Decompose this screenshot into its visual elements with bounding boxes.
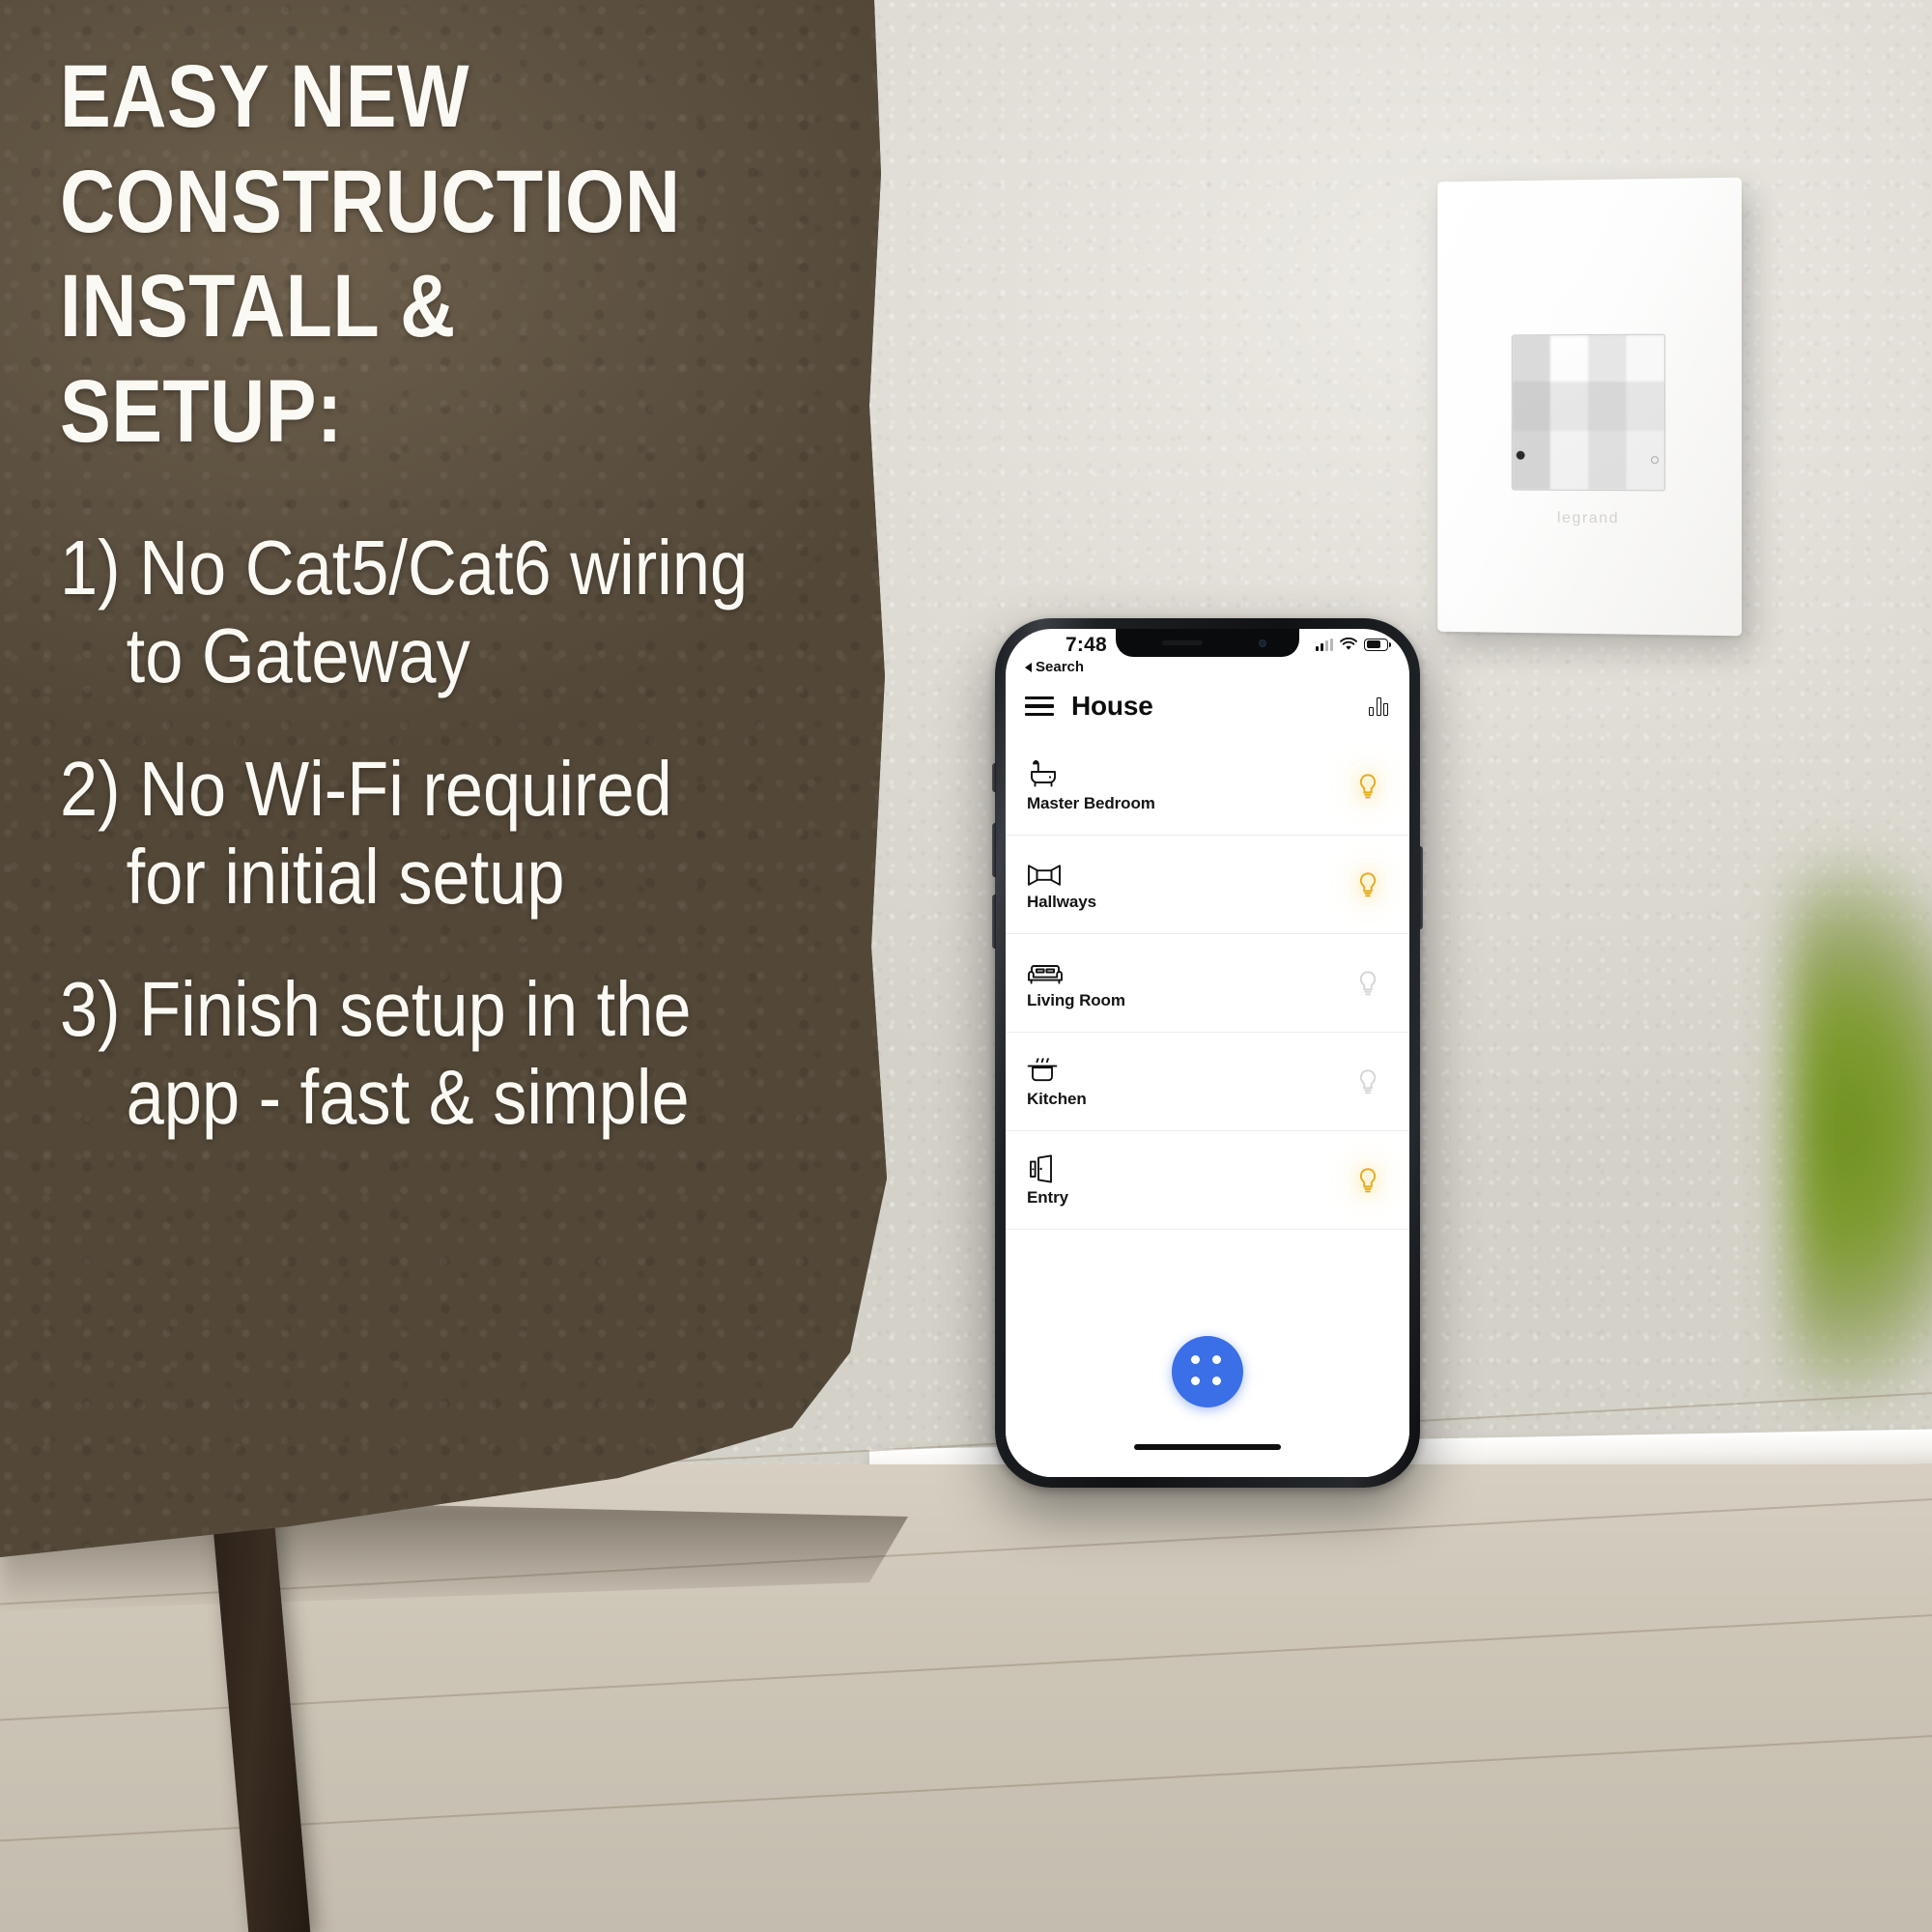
- step-line2: for initial setup: [60, 833, 765, 921]
- fab-container: [1006, 1299, 1409, 1444]
- list-item-label: Hallways: [1027, 893, 1096, 912]
- light-toggle-bulb-icon[interactable]: [1350, 867, 1386, 903]
- bathtub-icon: [1027, 758, 1155, 789]
- promo-copy: EASY NEW CONSTRUCTION INSTALL & SETUP: 1…: [60, 44, 862, 1185]
- bar-chart-icon[interactable]: [1369, 697, 1388, 716]
- wifi-icon: [1340, 638, 1357, 651]
- back-to-search-button[interactable]: Search: [1025, 659, 1107, 675]
- step-number: 1): [60, 525, 121, 611]
- list-item[interactable]: Master Bedroom: [1006, 737, 1409, 836]
- light-toggle-bulb-icon[interactable]: [1350, 1162, 1386, 1199]
- step-line1: No Cat5/Cat6 wiring: [139, 525, 748, 611]
- list-item-label: Master Bedroom: [1027, 794, 1155, 813]
- list-item[interactable]: Entry: [1006, 1131, 1409, 1230]
- phone-volume-up-button[interactable]: [992, 823, 996, 877]
- promo-step: 2) No Wi-Fi required for initial setup: [60, 745, 765, 921]
- step-line2: app - fast & simple: [60, 1053, 765, 1141]
- list-item-label: Kitchen: [1027, 1090, 1087, 1109]
- status-bar-right: [1316, 635, 1388, 651]
- wall-switch-plate[interactable]: legrand: [1437, 178, 1742, 637]
- cooking-pot-icon: [1027, 1054, 1087, 1085]
- step-line1: Finish setup in the: [139, 966, 691, 1052]
- list-item-label: Entry: [1027, 1188, 1068, 1207]
- list-item[interactable]: Living Room: [1006, 934, 1409, 1033]
- step-line2: to Gateway: [60, 611, 765, 699]
- room-list: Master Bedroom: [1006, 737, 1409, 1299]
- paddle-pixelated-surface: [1513, 335, 1664, 491]
- status-led-icon: [1517, 451, 1525, 460]
- status-bar-clock: 7:48: [1065, 635, 1107, 655]
- step-line1: No Wi-Fi required: [139, 746, 672, 832]
- hallway-icon: [1027, 857, 1096, 888]
- promo-step: 3) Finish setup in the app - fast & simp…: [60, 965, 765, 1141]
- phone-screen: 7:48 Search: [1006, 629, 1409, 1477]
- phone-volume-down-button[interactable]: [992, 895, 996, 949]
- photo-scene: legrand EASY NEW CONSTRUCTION INSTALL & …: [0, 0, 1932, 1932]
- app-header: House: [1006, 675, 1409, 737]
- phone-mute-switch[interactable]: [992, 763, 996, 792]
- light-toggle-bulb-icon[interactable]: [1350, 1064, 1386, 1100]
- battery-icon: [1364, 639, 1388, 651]
- promo-headline: EASY NEW CONSTRUCTION INSTALL & SETUP:: [60, 44, 750, 464]
- smartphone-mockup: 7:48 Search: [995, 618, 1420, 1488]
- blurred-plant: [1789, 850, 1932, 1430]
- list-item[interactable]: Hallways: [1006, 836, 1409, 934]
- back-label: Search: [1036, 659, 1084, 675]
- promo-steps: 1) No Cat5/Cat6 wiring to Gateway 2) No …: [60, 524, 862, 1141]
- page-title: House: [1071, 691, 1153, 722]
- switch-paddle[interactable]: [1512, 334, 1665, 492]
- promo-step: 1) No Cat5/Cat6 wiring to Gateway: [60, 524, 765, 699]
- hamburger-menu-icon[interactable]: [1025, 696, 1054, 716]
- phone-power-button[interactable]: [1419, 846, 1423, 929]
- step-number: 2): [60, 746, 121, 832]
- back-triangle-icon: [1025, 663, 1032, 672]
- ios-status-bar: 7:48 Search: [1006, 629, 1409, 675]
- sofa-icon: [1027, 955, 1125, 986]
- home-indicator[interactable]: [1006, 1444, 1409, 1477]
- light-toggle-bulb-icon[interactable]: [1350, 965, 1386, 1002]
- status-bar-left: 7:48 Search: [1025, 635, 1107, 675]
- cellular-signal-icon: [1316, 639, 1333, 651]
- step-number: 3): [60, 966, 121, 1052]
- list-item[interactable]: Kitchen: [1006, 1033, 1409, 1131]
- switch-brand-label: legrand: [1437, 509, 1742, 528]
- open-door-icon: [1027, 1152, 1068, 1183]
- four-dots-grid-icon[interactable]: [1172, 1336, 1243, 1407]
- light-toggle-bulb-icon[interactable]: [1350, 768, 1386, 805]
- screw-dot-icon: [1651, 456, 1659, 464]
- list-item-label: Living Room: [1027, 991, 1125, 1010]
